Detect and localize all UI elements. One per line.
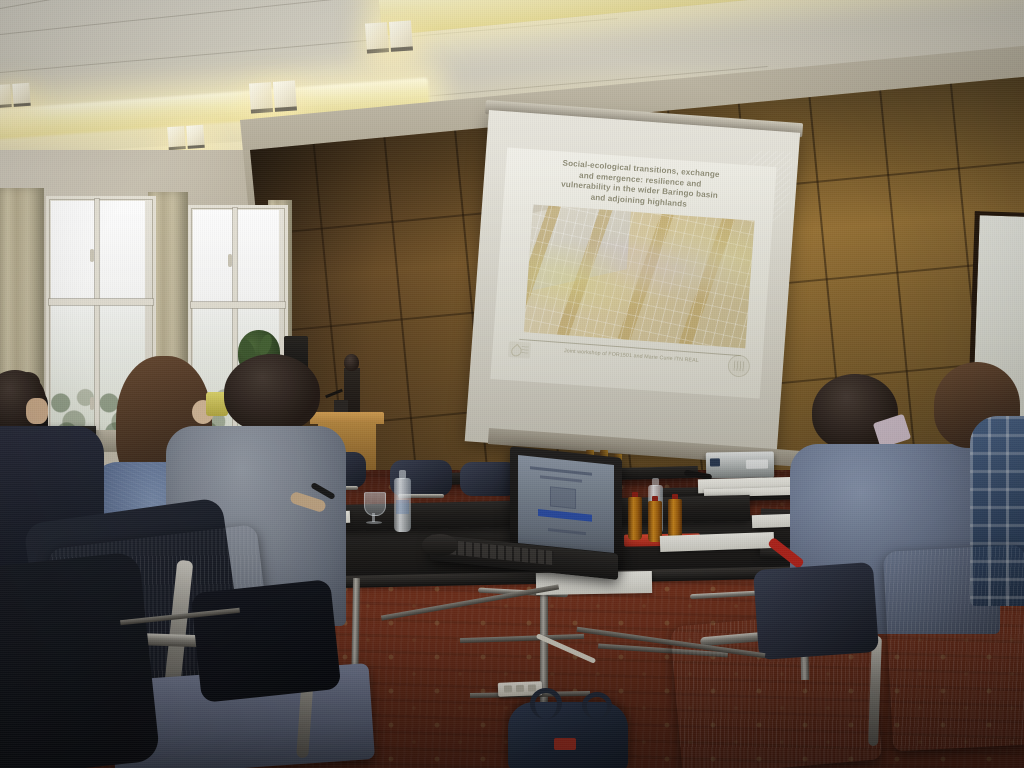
slide-image-building-facade	[524, 204, 755, 348]
laptop-screen-highlight-bar	[538, 509, 592, 522]
computer-mouse[interactable]	[422, 534, 458, 556]
chair-left-edge-dark[interactable]	[0, 551, 160, 768]
presentation-slide: Social-ecological transitions, exchange …	[490, 147, 776, 398]
face-profile	[26, 398, 48, 424]
laptop[interactable]	[430, 452, 620, 574]
lamp-pair-left	[167, 125, 205, 150]
ceiling-lamp	[0, 84, 12, 108]
projection-screen: Social-ecological transitions, exchange …	[465, 110, 800, 464]
institute-logo-icon	[508, 341, 531, 359]
drinking-glass	[362, 492, 386, 522]
ceiling-lamp	[249, 82, 273, 113]
projector-port	[710, 458, 720, 466]
backpack-strap	[582, 692, 612, 719]
chair-right-far[interactable]	[883, 544, 1024, 751]
projector-label	[746, 460, 768, 469]
slide-footer-text: Joint workshop of FOR1501 and Marie Curi…	[546, 347, 716, 365]
lamp-pair-center	[249, 80, 297, 113]
ceiling-lamp	[365, 22, 389, 53]
ceiling-lamp	[186, 125, 205, 149]
lamp-pair-right	[365, 20, 413, 53]
water-bottle	[394, 470, 411, 532]
backpack-strap	[530, 688, 562, 719]
lamp-pair-far-left	[0, 83, 31, 108]
ceiling-lamp	[12, 83, 31, 107]
backpack-logo	[554, 738, 576, 750]
ceiling-lamp	[167, 126, 186, 150]
bag-on-chair	[191, 579, 342, 703]
projector	[706, 451, 774, 478]
university-seal-icon	[727, 354, 751, 378]
juice-bottle	[668, 494, 682, 541]
ceiling-lamp	[273, 80, 297, 111]
laptop-screen[interactable]	[518, 455, 614, 553]
ceiling-lamp	[389, 20, 413, 51]
juice-bottle	[628, 492, 642, 540]
backpack	[508, 702, 628, 768]
chair-right-shadowed[interactable]	[753, 562, 879, 660]
conference-room-photo: Social-ecological transitions, exchange …	[0, 0, 1024, 768]
